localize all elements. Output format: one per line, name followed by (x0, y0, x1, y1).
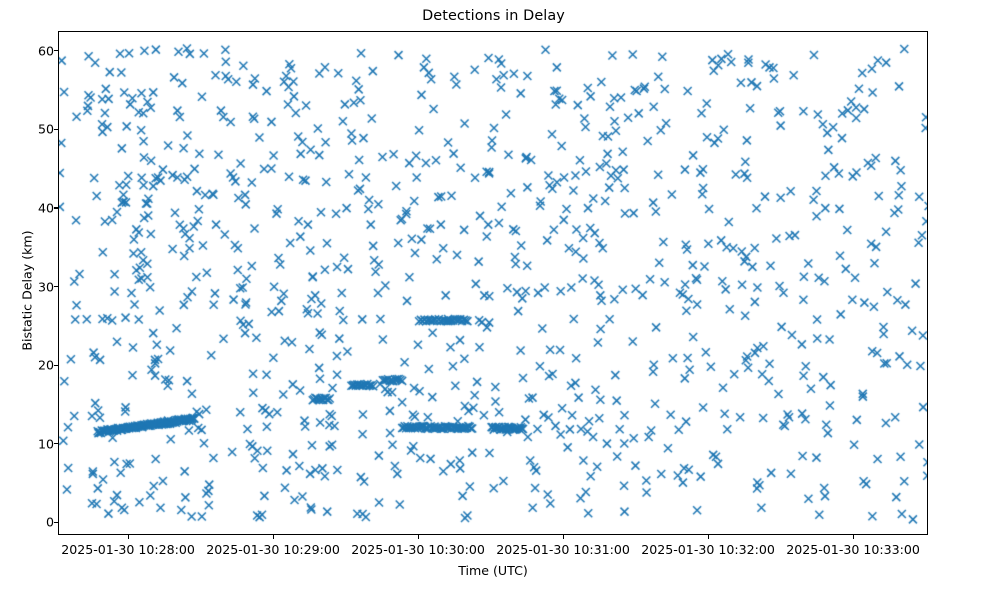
y-tick-label: 10 (0, 436, 54, 451)
y-tick-mark (54, 522, 58, 523)
x-tick-mark (708, 535, 709, 539)
figure-canvas: Detections in Delay 0102030405060 2025-0… (0, 0, 987, 590)
x-tick-label: 2025-01-30 10:32:00 (641, 542, 775, 557)
x-tick-label: 2025-01-30 10:33:00 (786, 542, 920, 557)
x-tick-mark (853, 535, 854, 539)
y-tick-mark (54, 207, 58, 208)
page-title: Detections in Delay (0, 8, 987, 24)
x-axis-label: Time (UTC) (58, 563, 928, 578)
y-tick-mark (54, 129, 58, 130)
plot-area[interactable] (58, 31, 928, 535)
y-tick-label: 60 (0, 43, 54, 58)
y-tick-mark (54, 443, 58, 444)
y-tick-mark (54, 365, 58, 366)
x-tick-mark (563, 535, 564, 539)
x-tick-mark (128, 535, 129, 539)
x-tick-label: 2025-01-30 10:30:00 (351, 542, 485, 557)
x-tick-label: 2025-01-30 10:29:00 (206, 542, 340, 557)
y-tick-mark (54, 286, 58, 287)
x-tick-mark (273, 535, 274, 539)
x-tick-mark (418, 535, 419, 539)
scatter-layer (59, 32, 928, 535)
y-tick-mark (54, 50, 58, 51)
y-tick-label: 50 (0, 122, 54, 137)
y-axis-label: Bistatic Delay (km) (20, 151, 35, 431)
y-tick-label: 0 (0, 515, 54, 530)
x-tick-label: 2025-01-30 10:31:00 (496, 542, 630, 557)
x-tick-label: 2025-01-30 10:28:00 (61, 542, 195, 557)
